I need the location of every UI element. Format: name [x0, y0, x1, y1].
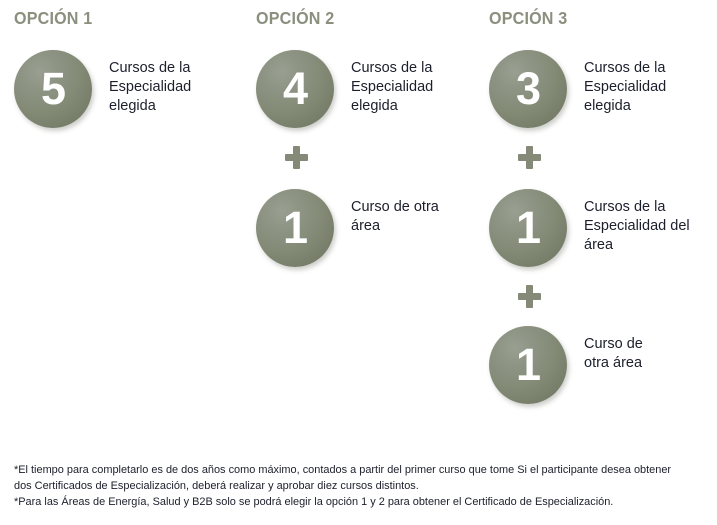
option-2-item-1-badge: 4	[256, 50, 336, 130]
option-3-item-3-label: Curso de otra área	[569, 326, 643, 373]
footnotes: *El tiempo para completarlo es de dos añ…	[14, 462, 679, 511]
option-3-item-3: 1 Curso de otra área	[489, 326, 643, 406]
option-1-item-1-badge: 5	[14, 50, 94, 130]
option-2-item-2-label: Curso de otra área	[336, 189, 439, 236]
footnote-line-2: dos Certificados de Especialización, deb…	[14, 478, 679, 494]
infographic-canvas: OPCIÓN 1 5 Cursos de la Especialidad ele…	[0, 0, 717, 525]
plus-icon	[285, 146, 308, 169]
option-column-2: OPCIÓN 2 4 Cursos de la Especialidad ele…	[256, 0, 486, 28]
circle-number: 4	[283, 66, 307, 111]
circle-badge: 1	[256, 189, 334, 267]
option-2-item-2-badge: 1	[256, 189, 336, 269]
option-2-item-1-label: Cursos de la Especialidad elegida	[336, 50, 433, 116]
circle-badge: 5	[14, 50, 92, 128]
option-1-item-1-label: Cursos de la Especialidad elegida	[94, 50, 191, 116]
option-3-item-1: 3 Cursos de la Especialidad elegida	[489, 50, 666, 130]
option-1-title: OPCIÓN 1	[14, 0, 224, 28]
option-3-item-2: 1 Cursos de la Especialidad del área	[489, 189, 690, 269]
circle-badge: 1	[489, 189, 567, 267]
option-column-3: OPCIÓN 3 3 Cursos de la Especialidad ele…	[489, 0, 717, 28]
option-1-item-1: 5 Cursos de la Especialidad elegida	[14, 50, 191, 130]
plus-icon	[518, 285, 541, 308]
option-2-title: OPCIÓN 2	[256, 0, 468, 28]
plus-icon	[518, 146, 541, 169]
option-3-item-1-label: Cursos de la Especialidad elegida	[569, 50, 666, 116]
option-3-item-2-badge: 1	[489, 189, 569, 269]
option-3-separator-1	[489, 144, 569, 170]
option-2-separator-1	[256, 144, 336, 170]
circle-badge: 3	[489, 50, 567, 128]
option-3-item-3-badge: 1	[489, 326, 569, 406]
circle-badge: 1	[489, 326, 567, 404]
circle-number: 5	[41, 66, 65, 111]
circle-number: 1	[283, 205, 307, 250]
circle-number: 3	[516, 66, 540, 111]
circle-badge: 4	[256, 50, 334, 128]
option-3-title: OPCIÓN 3	[489, 0, 699, 28]
footnote-line-3: *Para las Áreas de Energía, Salud y B2B …	[14, 494, 679, 510]
option-3-item-2-label: Cursos de la Especialidad del área	[569, 189, 690, 255]
option-column-1: OPCIÓN 1 5 Cursos de la Especialidad ele…	[14, 0, 242, 28]
option-3-item-1-badge: 3	[489, 50, 569, 130]
option-2-item-2: 1 Curso de otra área	[256, 189, 439, 269]
option-2-item-1: 4 Cursos de la Especialidad elegida	[256, 50, 433, 130]
circle-number: 1	[516, 342, 540, 387]
option-3-separator-2	[489, 283, 569, 309]
circle-number: 1	[516, 205, 540, 250]
footnote-line-1: *El tiempo para completarlo es de dos añ…	[14, 462, 679, 478]
